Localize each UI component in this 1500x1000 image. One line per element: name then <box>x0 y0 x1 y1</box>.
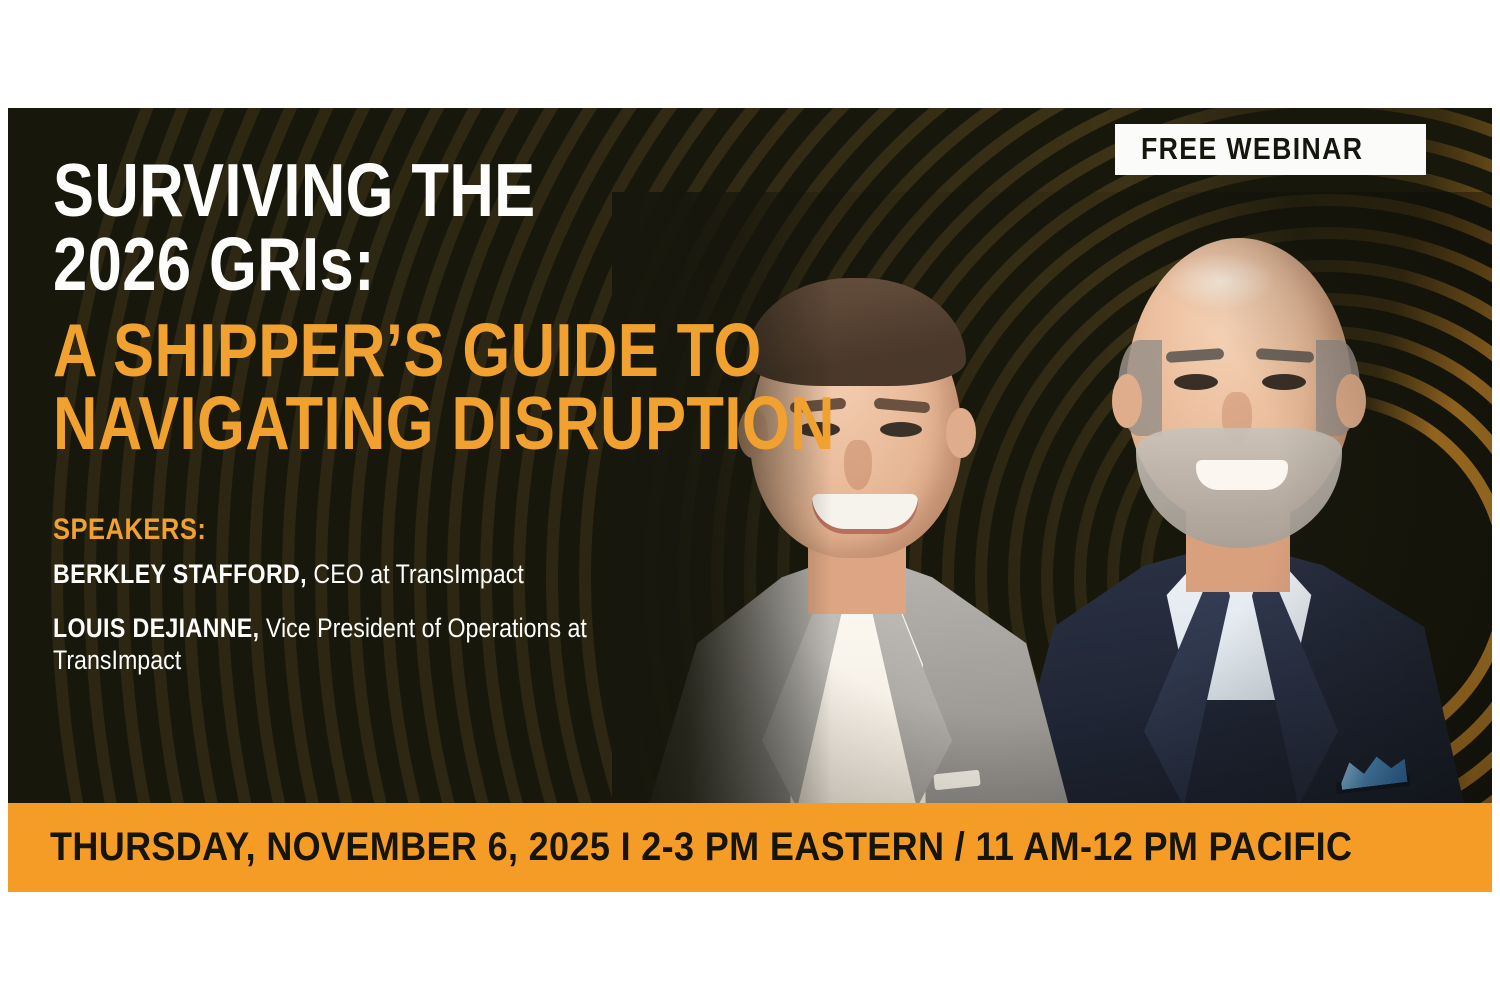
speaker-entry: LOUIS DEJIANNE, Vice President of Operat… <box>53 613 655 677</box>
event-datetime-text: THURSDAY, NOVEMBER 6, 2025 I 2-3 PM EAST… <box>50 825 1352 870</box>
headline-line-3: A SHIPPER’S GUIDE TO <box>53 316 660 386</box>
event-datetime-bar: THURSDAY, NOVEMBER 6, 2025 I 2-3 PM EAST… <box>8 803 1492 892</box>
speakers-section: SPEAKERS: BERKLEY STAFFORD, CEO at Trans… <box>53 513 793 677</box>
banner-text-block: SURVIVING THE 2026 GRIs: A SHIPPER’S GUI… <box>53 156 793 699</box>
headline-line-2: 2026 GRIs: <box>53 230 660 300</box>
speaker-name: BERKLEY STAFFORD, <box>53 559 307 589</box>
speaker-entry: BERKLEY STAFFORD, CEO at TransImpact <box>53 559 655 591</box>
free-webinar-badge: FREE WEBINAR <box>1115 124 1426 175</box>
speakers-label: SPEAKERS: <box>53 513 682 547</box>
free-webinar-badge-label: FREE WEBINAR <box>1141 133 1363 164</box>
speaker-name: LOUIS DEJIANNE, <box>53 613 259 643</box>
headline-line-4: NAVIGATING DISRUPTION <box>53 389 660 459</box>
headline-line-1: SURVIVING THE <box>53 156 660 226</box>
speaker-title: CEO at TransImpact <box>313 559 523 589</box>
page-root: FREE WEBINAR SURVIVING THE 2026 GRIs: A … <box>0 0 1500 1000</box>
webinar-promo-banner: FREE WEBINAR SURVIVING THE 2026 GRIs: A … <box>8 108 1492 892</box>
